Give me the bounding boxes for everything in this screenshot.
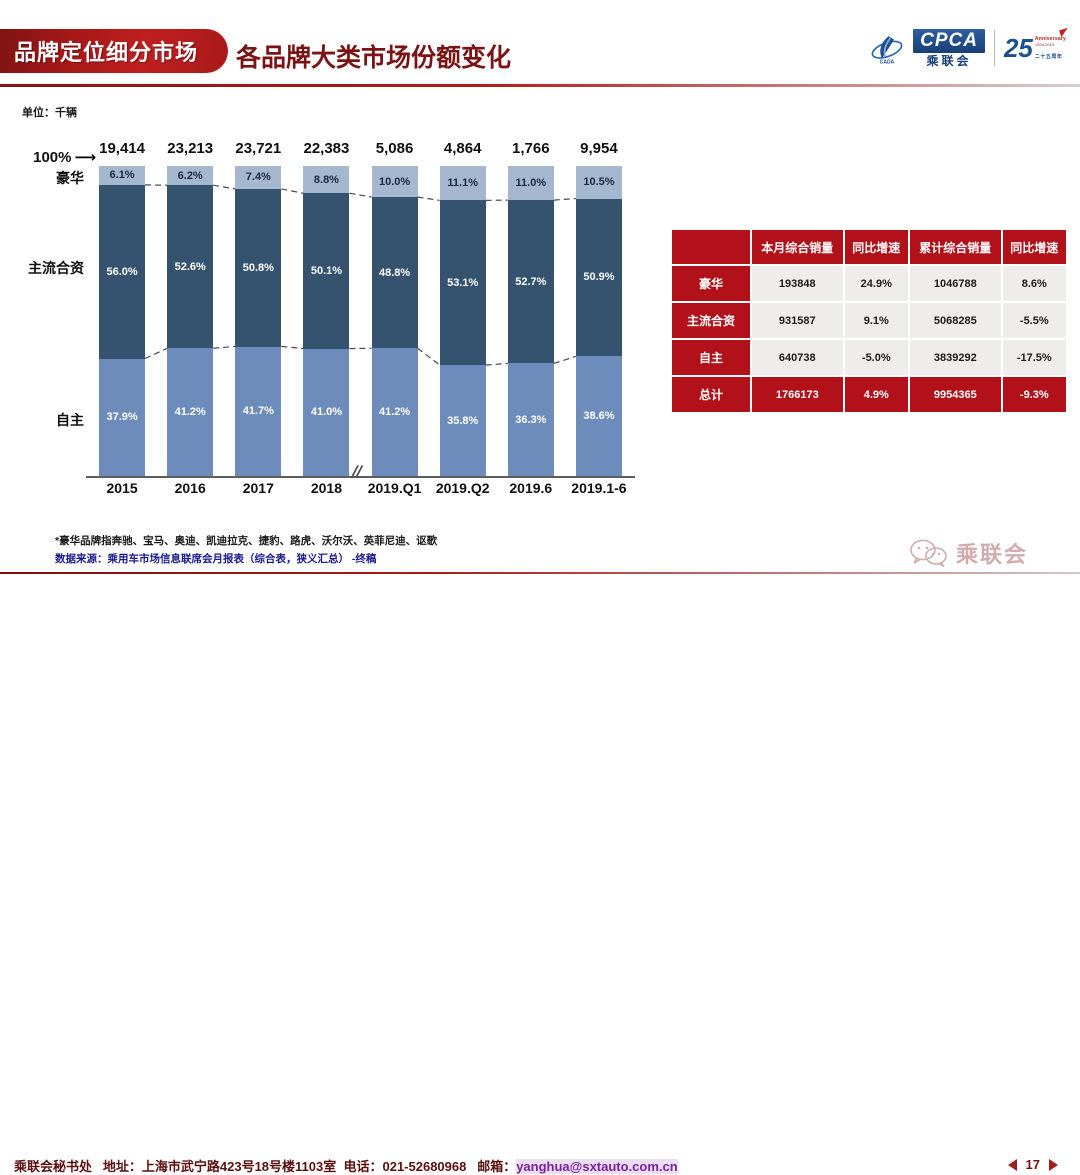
table-cell-month-sales: 640738 (752, 340, 843, 375)
wechat-icon (908, 539, 950, 567)
bar-segment-mainstream: 48.8% (372, 197, 418, 348)
bar-segment-mainstream-label: 56.0% (106, 266, 137, 278)
table-cell-month-sales: 1766173 (752, 377, 843, 412)
bar-total-label: 23,721 (235, 140, 281, 157)
table-row-header: 自主 (672, 340, 750, 375)
bar-slot: 1,76611.0%52.7%36.3% (497, 140, 565, 476)
x-axis-label: 2015 (88, 480, 156, 496)
footer-email[interactable]: yanghua@sxtauto.com.cn (516, 1159, 677, 1174)
table-column-header: 累计综合销量 (910, 230, 1001, 264)
bar-segment-luxury-label: 6.1% (110, 169, 135, 181)
bar-segment-mainstream-label: 50.1% (311, 265, 342, 277)
x-axis-label: 2019.Q2 (429, 480, 497, 496)
stacked-bar[interactable]: 10.5%50.9%38.6% (576, 166, 622, 476)
bar-total-label: 22,383 (303, 140, 349, 157)
bar-segment-own: 37.9% (99, 359, 145, 476)
footer-email-label: 邮箱： (477, 1159, 516, 1174)
cpca-wordmark: CPCA 乘联会 (913, 29, 985, 67)
footer-address-label: 地址： (103, 1159, 142, 1174)
cpca-logo: CADA CPCA 乘联会 25 Anniversary 1994-2019 二… (870, 25, 1066, 71)
bar-slot: 19,4146.1%56.0%37.9% (88, 140, 156, 476)
bar-segment-mainstream-label: 50.8% (243, 262, 274, 274)
footer-phone-label: 电话： (343, 1159, 382, 1174)
series-label-luxury: 豪华 (18, 168, 84, 188)
summary-table: 本月综合销量同比增速累计综合销量同比增速 豪华19384824.9%104678… (670, 228, 1068, 414)
table-cell-month-yoy: -5.0% (845, 340, 908, 375)
x-axis-label: 2017 (224, 480, 292, 496)
bar-segment-own-label: 41.0% (311, 406, 342, 418)
series-label-mainstream: 主流合资 (12, 258, 84, 278)
table-row-header: 主流合资 (672, 303, 750, 338)
table-cell-cum-sales: 9954365 (910, 377, 1001, 412)
table-cell-cum-yoy: -5.5% (1003, 303, 1066, 338)
bar-segment-mainstream-label: 53.1% (447, 277, 478, 289)
logo-divider (994, 30, 995, 66)
anniversary-years: 1994-2019 (1035, 42, 1066, 47)
table-row-header: 豪华 (672, 266, 750, 301)
table-row: 豪华19384824.9%10467888.6% (672, 266, 1066, 301)
bar-total-label: 5,086 (376, 140, 414, 157)
stacked-bar[interactable]: 11.1%53.1%35.8% (440, 166, 486, 476)
bar-segment-luxury-label: 7.4% (246, 171, 271, 183)
stacked-bar[interactable]: 7.4%50.8%41.7% (235, 166, 281, 476)
cada-text: CADA (880, 59, 895, 65)
bar-segment-mainstream: 50.8% (235, 189, 281, 347)
bar-segment-luxury-label: 10.5% (583, 176, 614, 188)
bar-segment-luxury: 11.1% (440, 166, 486, 200)
bar-total-label: 19,414 (99, 140, 145, 157)
bar-segment-luxury: 6.2% (167, 166, 213, 185)
stacked-bar[interactable]: 6.1%56.0%37.9% (99, 166, 145, 476)
wechat-watermark: 乘联会 (908, 537, 1028, 569)
table-head: 本月综合销量同比增速累计综合销量同比增速 (672, 230, 1066, 264)
bar-slot: 5,08610.0%48.8%41.2% (361, 140, 429, 476)
bar-segment-mainstream-label: 50.9% (583, 271, 614, 283)
bar-segment-own-label: 37.9% (106, 411, 137, 423)
table-cell-cum-yoy: 8.6% (1003, 266, 1066, 301)
bar-total-label: 1,766 (512, 140, 550, 157)
table-header-row: 本月综合销量同比增速累计综合销量同比增速 (672, 230, 1066, 264)
x-axis-label: 2019.6 (497, 480, 565, 496)
bar-segment-own-label: 41.7% (243, 405, 274, 417)
next-page-icon[interactable] (1049, 1159, 1058, 1171)
footnote-luxury-brands: *豪华品牌指奔驰、宝马、奥迪、凯迪拉克、捷豹、路虎、沃尔沃、英菲尼迪、讴歌 (55, 533, 437, 548)
table-cell-cum-sales: 1046788 (910, 266, 1001, 301)
table-row-header: 总计 (672, 377, 750, 412)
x-axis-label: 2019.1-6 (565, 480, 633, 496)
bar-slot: 23,2136.2%52.6%41.2% (156, 140, 224, 476)
table-column-header: 本月综合销量 (752, 230, 843, 264)
footnotes: *豪华品牌指奔驰、宝马、奥迪、凯迪拉克、捷豹、路虎、沃尔沃、英菲尼迪、讴歌 数据… (55, 533, 437, 566)
bar-segment-own: 38.6% (576, 356, 622, 476)
chart-plot-area: 19,4146.1%56.0%37.9%23,2136.2%52.6%41.2%… (88, 140, 633, 476)
bar-total-label: 9,954 (580, 140, 618, 157)
bar-segment-mainstream: 52.6% (167, 185, 213, 348)
bar-segment-own-label: 35.8% (447, 415, 478, 427)
bar-segment-own-label: 41.2% (379, 406, 410, 418)
bar-segment-luxury-label: 11.0% (516, 177, 547, 189)
bar-segment-luxury: 10.5% (576, 166, 622, 199)
bar-segment-mainstream: 53.1% (440, 200, 486, 365)
table-column-header: 同比增速 (845, 230, 908, 264)
bar-segment-luxury: 11.0% (508, 166, 554, 200)
summary-table-wrap: 本月综合销量同比增速累计综合销量同比增速 豪华19384824.9%104678… (670, 228, 1068, 414)
table-body: 豪华19384824.9%10467888.6%主流合资9315879.1%50… (672, 266, 1066, 412)
page-title: 各品牌大类市场份额变化 (236, 38, 511, 74)
bar-segment-mainstream: 56.0% (99, 185, 145, 359)
table-cell-month-yoy: 9.1% (845, 303, 908, 338)
table-cell-cum-sales: 3839292 (910, 340, 1001, 375)
pager[interactable]: 17 (1008, 1157, 1058, 1172)
table-cell-month-sales: 193848 (752, 266, 843, 301)
bar-segment-luxury-label: 6.2% (178, 170, 203, 182)
bar-segment-mainstream: 52.7% (508, 200, 554, 363)
slide-footer: 乘联会秘书处 地址：上海市武宁路423号18号楼1103室 电话：021-526… (0, 574, 1080, 607)
anniversary-text-block: Anniversary 1994-2019 二十五周年 (1035, 36, 1066, 60)
table-cell-month-yoy: 24.9% (845, 266, 908, 301)
bar-segment-luxury-label: 10.0% (379, 176, 410, 188)
bar-segment-own-label: 36.3% (515, 414, 546, 426)
bar-total-label: 4,864 (444, 140, 482, 157)
bar-total-label: 23,213 (167, 140, 213, 157)
bar-segment-luxury: 10.0% (372, 166, 418, 197)
bar-segment-mainstream-label: 52.7% (515, 276, 546, 288)
series-label-own: 自主 (12, 410, 84, 430)
y-axis-100-label: 100%⟶ (18, 148, 96, 167)
y-axis-100-text: 100% (33, 149, 71, 166)
unit-label: 单位：千辆 (22, 104, 77, 120)
x-axis-labels: 20152016201720182019.Q12019.Q22019.62019… (88, 480, 633, 496)
title-pill-text: 品牌定位细分市场 (0, 35, 198, 67)
footer-contact-line: 乘联会秘书处 地址：上海市武宁路423号18号楼1103室 电话：021-526… (14, 1156, 678, 1175)
footer-phone: 021-52680968 (382, 1159, 466, 1174)
bar-slot: 4,86411.1%53.1%35.8% (429, 140, 497, 476)
bar-segment-own: 41.2% (167, 348, 213, 476)
stacked-bar[interactable]: 6.2%52.6%41.2% (167, 166, 213, 476)
bar-segment-mainstream-label: 48.8% (379, 267, 410, 279)
x-axis-label: 2019.Q1 (361, 480, 429, 496)
table-cell-cum-sales: 5068285 (910, 303, 1001, 338)
table-cell-month-sales: 931587 (752, 303, 843, 338)
bar-segment-luxury: 6.1% (99, 166, 145, 185)
header-divider (0, 84, 1080, 87)
bar-segment-mainstream-label: 52.6% (175, 261, 206, 273)
table-row: 主流合资9315879.1%5068285-5.5% (672, 303, 1066, 338)
bar-slot: 9,95410.5%50.9%38.6% (565, 140, 633, 476)
table-column-header: 同比增速 (1003, 230, 1066, 264)
stacked-bar[interactable]: 11.0%52.7%36.3% (508, 166, 554, 476)
bar-segment-own-label: 38.6% (583, 410, 614, 422)
page-number: 17 (1026, 1157, 1040, 1172)
cpca-swoosh-icon: CADA (870, 31, 904, 65)
bar-segment-luxury-label: 11.1% (447, 177, 478, 189)
bar-segment-own: 41.7% (235, 347, 281, 476)
wechat-account-name: 乘联会 (956, 537, 1028, 569)
anniversary-ribbon-icon (1059, 28, 1070, 37)
cpca-word: CPCA (913, 29, 985, 53)
table-cell-month-yoy: 4.9% (845, 377, 908, 412)
anniversary-cn: 二十五周年 (1035, 53, 1066, 60)
footer-address: 上海市武宁路423号18号楼1103室 (142, 1159, 336, 1174)
table-corner-cell (672, 230, 750, 264)
anniversary-number: 25 (1004, 35, 1033, 61)
bar-segment-mainstream: 50.1% (303, 193, 349, 348)
table-cell-cum-yoy: -17.5% (1003, 340, 1066, 375)
bar-segment-luxury-label: 8.8% (314, 174, 339, 186)
bar-segment-luxury: 7.4% (235, 166, 281, 189)
slide-header: 品牌定位细分市场 各品牌大类市场份额变化 CADA CPCA 乘联会 25 An… (0, 0, 1080, 88)
bar-segment-own: 41.0% (303, 349, 349, 476)
table-cell-cum-yoy: -9.3% (1003, 377, 1066, 412)
cpca-chinese-name: 乘联会 (927, 55, 972, 67)
bar-segment-luxury: 8.8% (303, 166, 349, 193)
bar-slot: 22,3838.8%50.1%41.0% (292, 140, 360, 476)
stacked-bar[interactable]: 10.0%48.8%41.2% (372, 166, 418, 476)
x-axis-label: 2016 (156, 480, 224, 496)
bar-group: 19,4146.1%56.0%37.9%23,2136.2%52.6%41.2%… (88, 140, 633, 476)
title-pill: 品牌定位细分市场 (0, 29, 228, 73)
bar-segment-own-label: 41.2% (175, 406, 206, 418)
anniversary-badge: 25 Anniversary 1994-2019 二十五周年 (1004, 35, 1066, 61)
x-axis-label: 2018 (292, 480, 360, 496)
footnote-data-source: 数据来源：乘用车市场信息联席会月报表（综合表，狭义汇总） -终稿 (55, 551, 437, 566)
stacked-bar-chart: 100%⟶ 豪华 主流合资 自主 19,4146.1%56.0%37.9%23,… (0, 128, 660, 508)
bar-slot: 23,7217.4%50.8%41.7% (224, 140, 292, 476)
footer-org: 乘联会秘书处 (14, 1159, 92, 1174)
stacked-bar[interactable]: 8.8%50.1%41.0% (303, 166, 349, 476)
previous-page-icon[interactable] (1008, 1159, 1017, 1171)
bar-segment-mainstream: 50.9% (576, 199, 622, 357)
table-row: 自主640738-5.0%3839292-17.5% (672, 340, 1066, 375)
bar-segment-own: 36.3% (508, 363, 554, 476)
bar-segment-own: 35.8% (440, 365, 486, 476)
table-row: 总计17661734.9%9954365-9.3% (672, 377, 1066, 412)
bar-segment-own: 41.2% (372, 348, 418, 476)
